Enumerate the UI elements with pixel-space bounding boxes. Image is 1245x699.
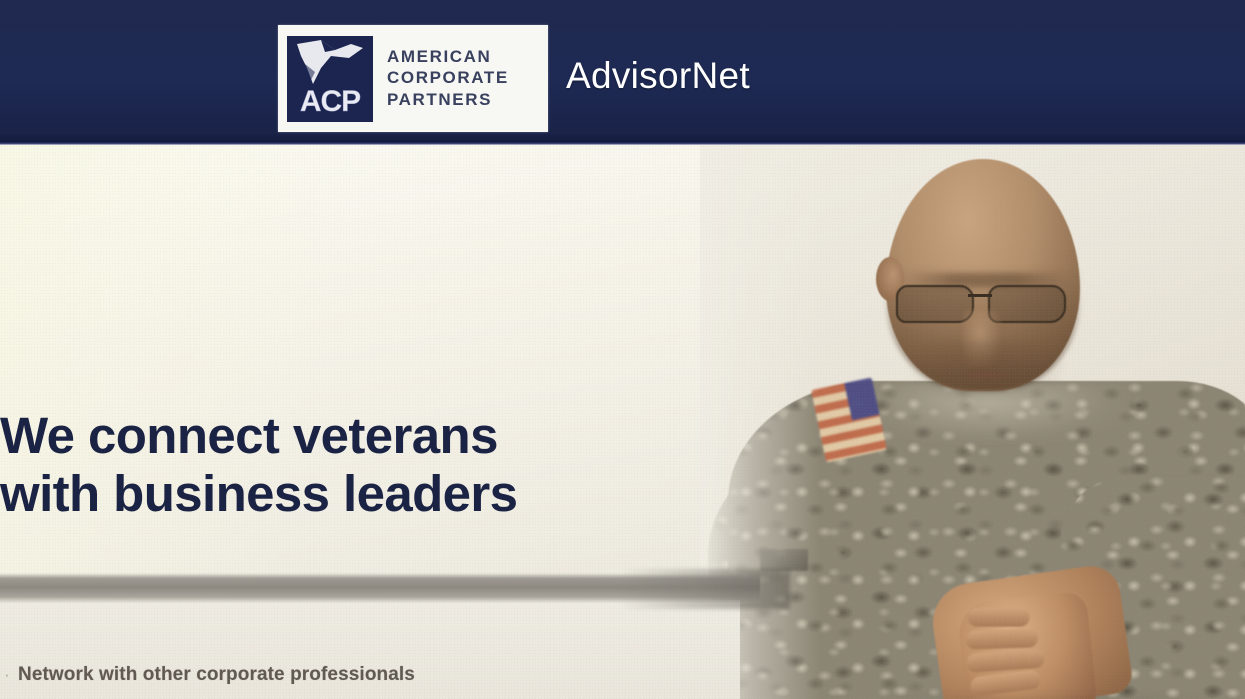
acp-logo-wordmark: AMERICAN CORPORATE PARTNERS [387, 48, 509, 109]
site-header: ACP AMERICAN CORPORATE PARTNERS AdvisorN… [0, 0, 1245, 145]
advisornet-wordmark[interactable]: AdvisorNet [566, 57, 750, 94]
hero-headline: We connect veterans with business leader… [0, 407, 660, 523]
acp-logo-mark: ACP [287, 36, 373, 122]
acp-monogram: ACP [287, 87, 373, 117]
hero-banner: We connect veterans with business leader… [0, 145, 1245, 699]
bullet-text: Network with other corporate professiona… [18, 663, 415, 687]
acp-logo[interactable]: ACP AMERICAN CORPORATE PARTNERS [278, 25, 548, 132]
logo-line-american: AMERICAN [387, 48, 509, 66]
logo-line-partners: PARTNERS [387, 91, 509, 109]
bullet-marker-icon: · [4, 663, 18, 687]
logo-line-corporate: CORPORATE [387, 69, 509, 87]
hero-bullet-list: · Network with other corporate professio… [0, 663, 700, 699]
list-item: · Network with other corporate professio… [0, 663, 700, 699]
eagle-icon [291, 38, 369, 90]
advisornet-banner: ACP AMERICAN CORPORATE PARTNERS AdvisorN… [0, 0, 1245, 699]
